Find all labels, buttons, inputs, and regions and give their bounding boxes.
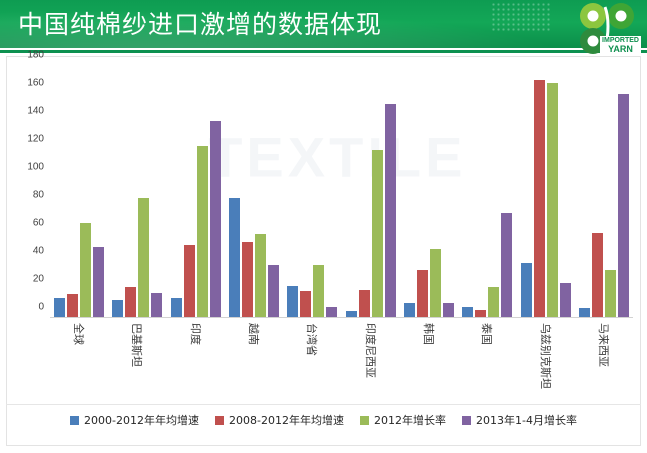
bar-group (458, 66, 516, 318)
bar[interactable] (547, 83, 558, 318)
legend-label: 2012年增长率 (374, 412, 446, 428)
bar[interactable] (605, 270, 616, 318)
bar[interactable] (359, 290, 370, 318)
bar-group (341, 66, 399, 318)
header-dot-pattern (491, 2, 551, 32)
bar[interactable] (372, 150, 383, 318)
y-axis-tick-label: 40 (33, 246, 50, 257)
bar[interactable] (534, 80, 545, 318)
bar-chart: TEXTILE 020406080100120140160180 全球巴基斯坦印… (6, 56, 641, 446)
bar-group (400, 66, 458, 318)
bar[interactable] (67, 294, 78, 318)
bar[interactable] (229, 198, 240, 318)
legend-item[interactable]: 2013年1-4月增长率 (462, 412, 577, 428)
bar[interactable] (151, 293, 162, 318)
bar[interactable] (210, 121, 221, 318)
y-axis-tick-label: 160 (27, 78, 50, 89)
bar-group (167, 66, 225, 318)
y-axis-tick-label: 0 (38, 302, 50, 313)
bar[interactable] (93, 247, 104, 318)
bar-groups (50, 66, 633, 318)
bar[interactable] (54, 298, 65, 318)
bar[interactable] (171, 298, 182, 318)
bar[interactable] (125, 287, 136, 318)
bar[interactable] (80, 223, 91, 318)
y-axis-tick-label: 60 (33, 218, 50, 229)
imported-yarn-logo: IMPORTED YARN (569, 1, 643, 55)
bar[interactable] (255, 234, 266, 318)
x-axis-labels: 全球巴基斯坦印度越南台湾省印度尼西亚韩国泰国乌兹别克斯坦马来西亚 (50, 320, 633, 404)
bar-group (225, 66, 283, 318)
bar[interactable] (521, 263, 532, 318)
logo-wordmark: IMPORTED YARN (600, 36, 641, 54)
bar[interactable] (313, 265, 324, 318)
x-axis-label-cell: 越南 (225, 320, 283, 404)
slide-header: 中国纯棉纱进口激增的数据体现 (0, 0, 647, 50)
chart-legend: 2000-2012年年均增速2008-2012年年均增速2012年增长率2013… (6, 408, 641, 432)
x-axis-label: 印度尼西亚 (363, 323, 379, 378)
logo-wordmark-line1: IMPORTED (602, 37, 639, 44)
bar-group (575, 66, 633, 318)
y-axis-tick-label: 80 (33, 190, 50, 201)
legend-swatch (215, 416, 224, 425)
legend-item[interactable]: 2008-2012年年均增速 (215, 412, 344, 428)
x-axis-label-cell: 印度尼西亚 (341, 320, 399, 404)
x-axis-label: 印度 (188, 323, 204, 345)
legend-swatch (70, 416, 79, 425)
bar[interactable] (268, 265, 279, 318)
y-axis-tick-label: 140 (27, 106, 50, 117)
bar[interactable] (404, 303, 415, 318)
x-axis-label: 韩国 (421, 323, 437, 345)
x-axis-label-cell: 韩国 (400, 320, 458, 404)
x-axis-label: 乌兹别克斯坦 (538, 323, 554, 389)
x-axis-label-cell: 台湾省 (283, 320, 341, 404)
bar[interactable] (618, 94, 629, 318)
slide-root: 中国纯棉纱进口激增的数据体现 IMPORTED YARN TEXTILE 020… (0, 0, 647, 453)
x-axis-label-cell: 马来西亚 (575, 320, 633, 404)
page-title: 中国纯棉纱进口激增的数据体现 (18, 5, 382, 45)
x-axis-label-cell: 全球 (50, 320, 108, 404)
header-bottom-edge (0, 50, 647, 53)
bar[interactable] (112, 300, 123, 318)
legend-label: 2000-2012年年均增速 (84, 412, 199, 428)
legend-label: 2013年1-4月增长率 (476, 412, 577, 428)
bar[interactable] (417, 270, 428, 318)
bar[interactable] (560, 283, 571, 318)
bar[interactable] (592, 233, 603, 318)
x-axis-label: 全球 (71, 323, 87, 345)
plot-area: TEXTILE 020406080100120140160180 (50, 66, 633, 318)
bar[interactable] (300, 291, 311, 318)
x-axis-label: 越南 (246, 323, 262, 345)
bar[interactable] (501, 213, 512, 318)
x-axis-label-cell: 泰国 (458, 320, 516, 404)
bar[interactable] (443, 303, 454, 318)
x-axis-label: 马来西亚 (596, 323, 612, 367)
bar[interactable] (184, 245, 195, 318)
x-axis-label-cell: 巴基斯坦 (108, 320, 166, 404)
bar[interactable] (242, 242, 253, 318)
bar-group (516, 66, 574, 318)
bar-group (283, 66, 341, 318)
bar[interactable] (430, 249, 441, 318)
x-axis-label: 泰国 (479, 323, 495, 345)
bar-group (50, 66, 108, 318)
legend-swatch (360, 416, 369, 425)
bar[interactable] (197, 146, 208, 318)
logo-wordmark-line2: YARN (602, 45, 639, 53)
bar[interactable] (138, 198, 149, 318)
legend-label: 2008-2012年年均增速 (229, 412, 344, 428)
legend-item[interactable]: 2000-2012年年均增速 (70, 412, 199, 428)
y-axis-tick-label: 100 (27, 162, 50, 173)
bar[interactable] (287, 286, 298, 318)
legend-swatch (462, 416, 471, 425)
y-axis-tick-label: 180 (27, 50, 50, 61)
legend-divider (6, 404, 641, 405)
x-axis-label: 巴基斯坦 (129, 323, 145, 367)
x-axis-label-cell: 乌兹别克斯坦 (516, 320, 574, 404)
bar[interactable] (488, 287, 499, 318)
y-axis-tick-label: 120 (27, 134, 50, 145)
legend-item[interactable]: 2012年增长率 (360, 412, 446, 428)
x-axis-baseline (50, 317, 633, 318)
y-axis-tick-label: 20 (33, 274, 50, 285)
bar[interactable] (385, 104, 396, 318)
x-axis-label: 台湾省 (304, 323, 320, 356)
bar-group (108, 66, 166, 318)
x-axis-label-cell: 印度 (167, 320, 225, 404)
